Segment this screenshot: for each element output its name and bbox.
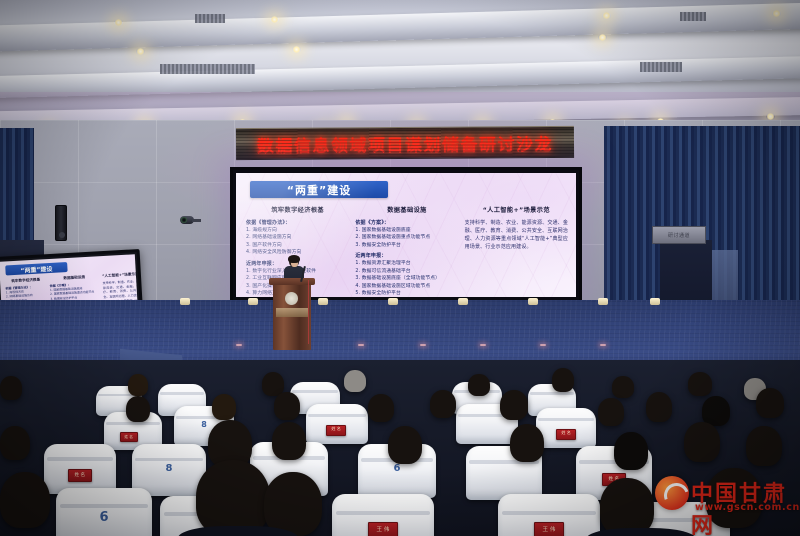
- chair-cover-band: [530, 392, 574, 394]
- wall-sign-label: 研讨通道: [653, 227, 705, 245]
- seat-name-card: 王 伟: [534, 522, 564, 536]
- audience-head: [128, 374, 148, 396]
- chair-cover-band: [336, 511, 430, 515]
- list-item: 1. 国家数据基础设施底座: [355, 227, 458, 234]
- audience-head: [388, 426, 422, 464]
- ceiling-downlight: [270, 16, 279, 23]
- seat-name-card-label: 王 伟: [543, 527, 556, 533]
- chair[interactable]: 王 伟 1: [498, 494, 600, 536]
- list-item: 1. 数据资源汇聚治理平台: [355, 260, 458, 267]
- audience-head: [746, 426, 782, 466]
- seat-name-card-label: 姓 名: [331, 428, 340, 432]
- chair[interactable]: 王 伟 2: [332, 494, 434, 536]
- podium: [272, 278, 312, 350]
- watermark-url: www.gscn.com.cn: [695, 502, 800, 513]
- seat-name-card: 姓 名: [556, 429, 576, 440]
- section-label: 依据《管理办法》：: [246, 219, 349, 226]
- ceiling-beam: [0, 2, 800, 52]
- swirl-logo-icon: [655, 476, 689, 510]
- microphone-cable: [308, 280, 309, 344]
- chair-cover-band: [538, 418, 593, 421]
- audience-head: [598, 398, 624, 426]
- podium-emblem: [285, 292, 298, 305]
- camera-mount-arm: [192, 219, 201, 222]
- stage-lip-lights: [180, 298, 660, 308]
- watermark: 中国甘肃网 www.gscn.com.cn: [655, 470, 795, 522]
- audience-head: [126, 396, 150, 422]
- audience-head: [614, 432, 648, 470]
- side-monitor-title: “两重”建设: [20, 263, 52, 274]
- chair-cover-band: [292, 390, 338, 392]
- audience-head: [552, 368, 574, 392]
- chair-cover-band: [60, 504, 148, 508]
- column-paragraph: 支持科学、制造、农业、能源资源、交通、金融、医疗、教育、消费、公共安全、互联网治…: [465, 219, 568, 251]
- seat-name-card: 姓 名: [326, 425, 346, 436]
- ceiling-downlight: [292, 46, 301, 53]
- audience-head: [272, 422, 306, 460]
- audience-head: [196, 460, 270, 536]
- audience-head: [368, 394, 394, 422]
- seat-name-card-label: 姓 名: [561, 432, 570, 436]
- ceiling-downlight: [772, 10, 781, 17]
- audience-head: [468, 374, 490, 396]
- list-item: 5. 数据安全防护平台: [355, 290, 458, 297]
- audience-head: [0, 376, 22, 400]
- camera-lens: [181, 217, 187, 223]
- seat-name-card-label: 姓 名: [125, 435, 134, 439]
- ceiling-vent: [195, 14, 225, 23]
- audience-head: [0, 426, 30, 460]
- column-heading: 筑牢数字经济根基: [246, 205, 349, 214]
- list-item: 2. 网络基础设施方向: [246, 234, 349, 241]
- ceiling-downlight: [598, 34, 607, 41]
- list-item: 4. 国家数据基础设施区域功能节点: [355, 283, 458, 290]
- led-banner: 数据信息领域项目谋划储备研讨沙龙: [236, 126, 574, 160]
- audience-head: [684, 422, 720, 462]
- ceiling-vent: [680, 12, 706, 21]
- audience-head: [344, 370, 366, 392]
- audience-head: [0, 472, 50, 528]
- seat-name-card-label: 王 伟: [377, 527, 390, 533]
- wall-sign-right: 研讨通道: [652, 226, 706, 244]
- chair-cover-band: [502, 511, 596, 515]
- chair-cover-band: [47, 457, 113, 461]
- list-item: 3. 数据安全防护平台: [355, 242, 458, 249]
- section-label: 依据《方案》：: [355, 219, 458, 226]
- chair[interactable]: 姓 名: [44, 444, 116, 494]
- seat-number: 6: [358, 463, 436, 474]
- list-item: 3. 国产软件方向: [246, 242, 349, 249]
- wall-speaker: [55, 205, 67, 241]
- presenter-hair: [288, 255, 300, 263]
- seat-name-card: 王 伟: [368, 522, 398, 536]
- security-camera-icon: [180, 216, 200, 224]
- audience-head: [264, 472, 322, 536]
- seat-number: 6: [56, 510, 152, 525]
- seat-name-card: 姓 名: [68, 469, 92, 482]
- slide-title-banner: “两重”建设: [250, 181, 388, 198]
- slide-title: “两重”建设: [287, 182, 351, 198]
- list-item: 2. 国家数据基础设施重点功能节点: [355, 234, 458, 241]
- audience-head: [430, 390, 456, 418]
- slide-column-2: 数据基础设施 依据《方案》： 1. 国家数据基础设施底座 2. 国家数据基础设施…: [355, 205, 458, 293]
- column-heading: “人工智能+”场景示范: [465, 205, 568, 214]
- ceiling-downlight: [602, 12, 611, 19]
- chair-cover-band: [160, 392, 204, 394]
- column-heading: 数据基础设施: [355, 205, 458, 214]
- slide-column-3: “人工智能+”场景示范 支持科学、制造、农业、能源资源、交通、金融、医疗、教育、…: [465, 205, 568, 293]
- column-heading: 筑牢数字经济根基: [5, 277, 46, 284]
- chair[interactable]: 6: [56, 488, 152, 536]
- audience-head: [688, 372, 712, 396]
- chair-cover-band: [135, 458, 203, 462]
- chair-cover-band: [106, 422, 159, 425]
- audience-head: [756, 388, 784, 418]
- ceiling-downlight: [136, 48, 145, 55]
- seat-name-card: 姓 名: [120, 432, 138, 442]
- ceiling: [0, 0, 800, 128]
- audience-head: [612, 376, 634, 398]
- list-item: 1. 海缆规方向: [246, 227, 349, 234]
- seat-number: 8: [132, 463, 206, 474]
- column-heading: “人工智能+”场景示范: [102, 272, 139, 279]
- audience-head: [212, 394, 236, 420]
- ceiling-downlight: [766, 113, 775, 120]
- chair-cover-band: [308, 414, 365, 417]
- side-monitor-title-banner: “两重”建设: [5, 262, 67, 275]
- audience-head: [500, 390, 528, 420]
- chair[interactable]: 姓 名: [536, 408, 596, 448]
- list-item: 2. 数据可信流通基础平台: [355, 268, 458, 275]
- list-item: 3. 数据基础设施底座（全域功能节点）: [355, 275, 458, 282]
- ceiling-vent: [160, 64, 255, 74]
- ceiling-downlight: [114, 19, 123, 26]
- audience-head: [274, 392, 300, 420]
- chair[interactable]: 姓 名: [306, 404, 368, 444]
- ceiling-vent: [640, 62, 682, 72]
- audience-head: [646, 392, 672, 422]
- section-label: 近两年申报：: [355, 252, 458, 259]
- audience-head: [510, 424, 544, 462]
- podium-panel: [276, 308, 308, 317]
- seat-name-card-label: 姓 名: [75, 473, 86, 478]
- conference-hall-photo: 研讨通道 数据信息领域项目谋划储备研讨沙龙 “两重”建设 筑牢数字经济根基 依据…: [0, 0, 800, 536]
- led-banner-text: 数据信息领域项目谋划储备研讨沙龙: [257, 129, 553, 156]
